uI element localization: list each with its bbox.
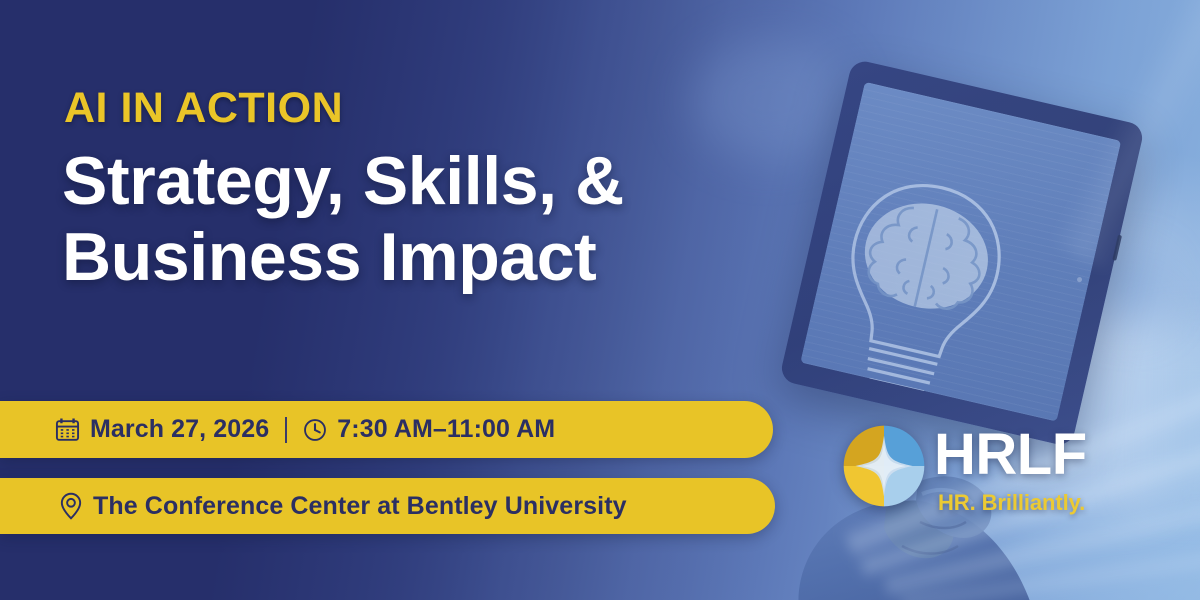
four-petal-star-circle-icon <box>842 424 926 508</box>
location-bar: The Conference Center at Bentley Univers… <box>0 478 775 534</box>
date-time-bar: March 27, 2026 7:30 AM–11:00 AM <box>0 401 773 458</box>
hrlf-logo: HRLF HR. Brilliantly. <box>842 424 1098 528</box>
logo-wordmark: HRLF <box>934 426 1087 484</box>
event-time: 7:30 AM–11:00 AM <box>337 415 555 444</box>
calendar-icon <box>54 416 81 443</box>
eyebrow-text: AI IN ACTION <box>64 84 343 133</box>
event-date: March 27, 2026 <box>90 415 269 444</box>
clock-icon <box>302 417 328 443</box>
event-banner: AI IN ACTION Strategy, Skills, & Busines… <box>0 0 1200 600</box>
map-pin-icon <box>58 492 84 520</box>
event-location: The Conference Center at Bentley Univers… <box>93 492 627 521</box>
divider <box>285 417 287 443</box>
page-title: Strategy, Skills, & Business Impact <box>62 143 624 295</box>
logo-tagline: HR. Brilliantly. <box>938 490 1085 516</box>
